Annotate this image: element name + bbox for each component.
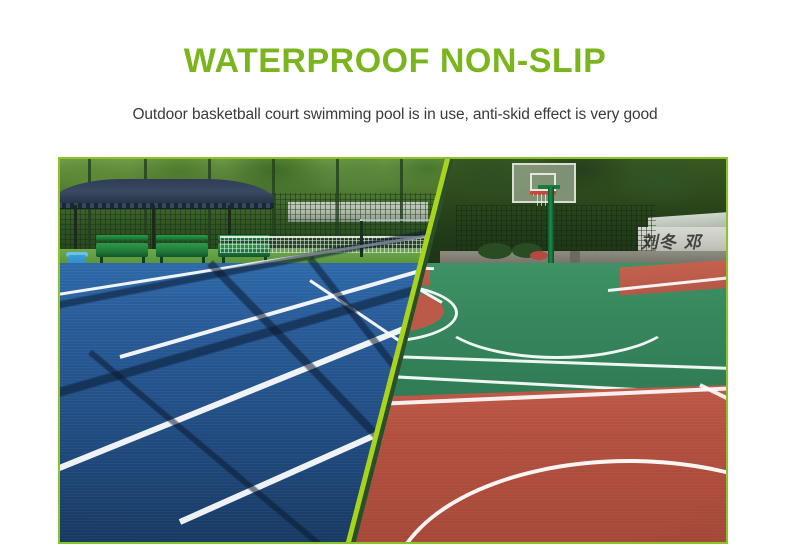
- hoop-pole: [548, 187, 554, 271]
- canopy-leg: [74, 205, 77, 251]
- canopy-trim: [60, 203, 274, 208]
- park-bench: [96, 243, 148, 257]
- page-subtitle: Outdoor basketball court swimming pool i…: [0, 104, 790, 126]
- park-bench: [156, 243, 208, 257]
- three-point-arc-far: [434, 263, 680, 359]
- park-bench-back: [156, 235, 208, 241]
- flower-bed: [530, 251, 548, 260]
- net-post: [360, 221, 363, 257]
- court-bollard: [570, 251, 580, 263]
- promo-banner: WATERPROOF NON-SLIP Outdoor basketball c…: [0, 0, 790, 558]
- photo-canvas: 刘冬 邓: [60, 159, 726, 542]
- product-photo: 刘冬 邓: [58, 157, 728, 544]
- canopy-leg: [152, 205, 155, 251]
- page-title: WATERPROOF NON-SLIP: [0, 40, 790, 82]
- park-bench-back: [96, 235, 148, 241]
- shrub: [478, 243, 512, 259]
